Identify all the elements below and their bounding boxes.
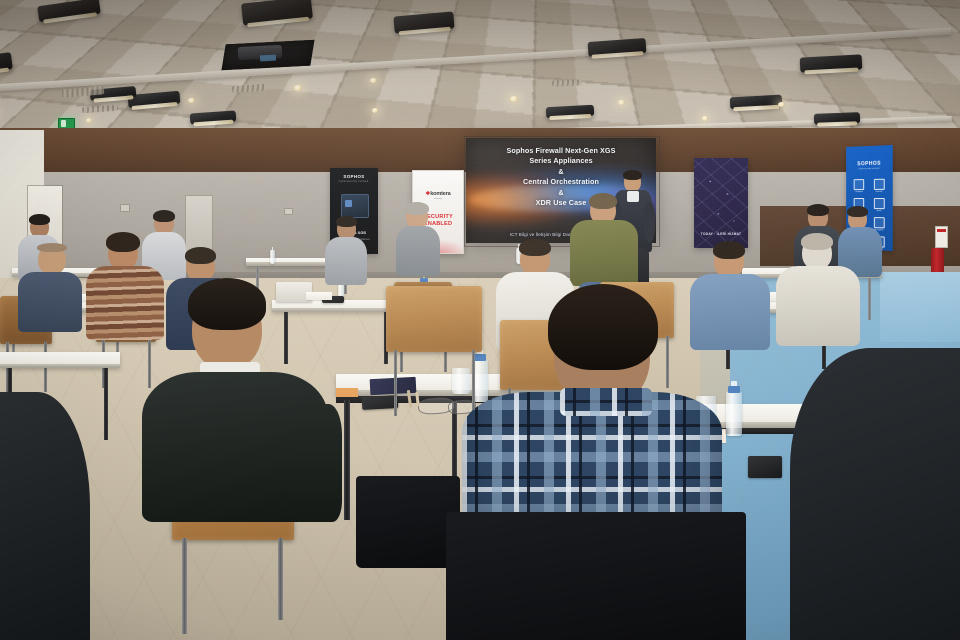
chair-leg — [666, 336, 669, 388]
xgs-appliance-image — [341, 194, 370, 218]
hair-fringe — [37, 243, 67, 252]
smartphone — [748, 456, 782, 478]
banner-network-visual: TODAY · İLERİ HİZMAT — [694, 158, 748, 248]
hair — [807, 204, 829, 216]
chair-leg — [472, 350, 475, 416]
sophos-blue-logo: SOPHOS — [846, 160, 893, 167]
hair-bun — [106, 232, 140, 252]
hair — [713, 241, 745, 259]
shirt-collar — [627, 191, 639, 202]
chair — [386, 286, 482, 352]
hair — [188, 278, 266, 330]
torso — [325, 237, 367, 285]
product-cell: Endpoint — [852, 179, 867, 193]
sophos-blue-tagline: Cybersecurity evolved. — [846, 167, 893, 170]
hair — [185, 247, 216, 264]
torso — [776, 266, 860, 346]
product-label: Email — [877, 210, 882, 212]
encryption-icon — [874, 217, 885, 228]
sophos-dark-tagline: Cybersecurity evolved. — [330, 180, 378, 183]
hair — [153, 210, 175, 222]
product-label: Firewall — [876, 191, 882, 193]
hair — [847, 206, 868, 217]
firewall-icon — [874, 179, 885, 190]
arm — [644, 202, 655, 242]
komtera-logo-text: komtera — [430, 191, 450, 197]
bottle-cap — [474, 354, 486, 361]
hair — [589, 193, 617, 209]
hair — [336, 216, 357, 227]
chair-leg — [394, 350, 397, 416]
table-leg — [344, 400, 350, 520]
endpoint-icon — [854, 179, 864, 190]
komtera-logo: ❖komtera — [413, 191, 463, 197]
notepad — [306, 292, 332, 300]
purple-banner-footer: TODAY · İLERİ HİZMAT — [694, 232, 748, 236]
water-bottle — [726, 392, 742, 436]
smartphone — [362, 395, 399, 410]
laptop-bag — [356, 476, 460, 568]
product-cell: Email — [871, 198, 887, 213]
chair-leg — [278, 538, 283, 620]
wall-socket — [120, 204, 130, 212]
floor-carpet-blue-far — [880, 272, 960, 342]
hair — [548, 284, 658, 370]
product-cell: Firewall — [871, 179, 887, 194]
bottle-cap — [728, 386, 740, 393]
torso — [18, 272, 82, 332]
table-leg — [284, 312, 288, 364]
water-bottle — [270, 250, 275, 264]
sophos-dark-logo: SOPHOS — [330, 174, 378, 179]
email-icon — [874, 198, 885, 209]
table-near-left — [0, 352, 120, 368]
fire-extinguisher-sign — [935, 226, 948, 248]
striped-sweater-torso — [86, 266, 164, 340]
hair — [519, 239, 551, 256]
drinking-glass — [452, 368, 470, 394]
torso — [790, 348, 960, 640]
light-blue-shirt-torso — [690, 274, 770, 350]
table-leg — [104, 368, 108, 440]
hair — [801, 233, 833, 250]
chair-leg — [148, 340, 151, 388]
table-leg — [868, 278, 871, 320]
komtera-tagline: teknoloji — [413, 198, 463, 200]
table-edge — [0, 364, 120, 368]
hair — [623, 170, 642, 180]
torso — [396, 226, 440, 276]
backpack — [446, 512, 746, 640]
hair — [405, 202, 429, 215]
table-edge — [272, 308, 396, 312]
olive-sweater-torso — [570, 220, 638, 286]
chair-leg — [182, 538, 187, 634]
product-label: Endpoint — [856, 191, 863, 193]
torso — [0, 392, 90, 640]
arm — [290, 404, 342, 522]
notepad — [336, 388, 358, 397]
wall-socket — [284, 208, 293, 215]
seminar-room-photo: Sophos Firewall Next-Gen XGS Series Appl… — [0, 0, 960, 640]
plaid-collar — [560, 388, 652, 416]
hair — [29, 214, 50, 225]
